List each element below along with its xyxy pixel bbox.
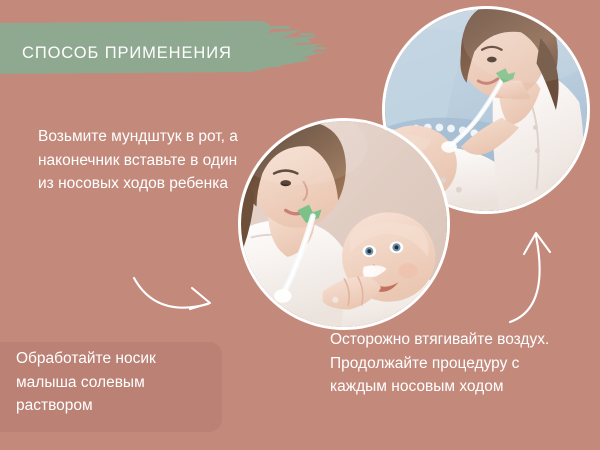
banner-title-text: СПОСОБ ПРИМЕНЕНИЯ [22,45,232,62]
title-banner: СПОСОБ ПРИМЕНЕНИЯ [0,16,340,80]
step-1-text: Обработайте носик малыша солевым раствор… [16,347,216,418]
poster-canvas: СПОСОБ ПРИМЕНЕНИЯ Возьмите мундштук в ро… [0,0,600,450]
step-3-text: Осторожно втягивайте воздух. Продолжайте… [330,328,580,399]
photo-middle-image [241,121,447,327]
arrow-step1-to-step2 [130,262,238,324]
photo-middle [238,118,450,330]
step-2-text: Возьмите мундштук в рот, а наконечник вс… [38,125,253,196]
arrow-step3-to-photo [500,222,560,326]
